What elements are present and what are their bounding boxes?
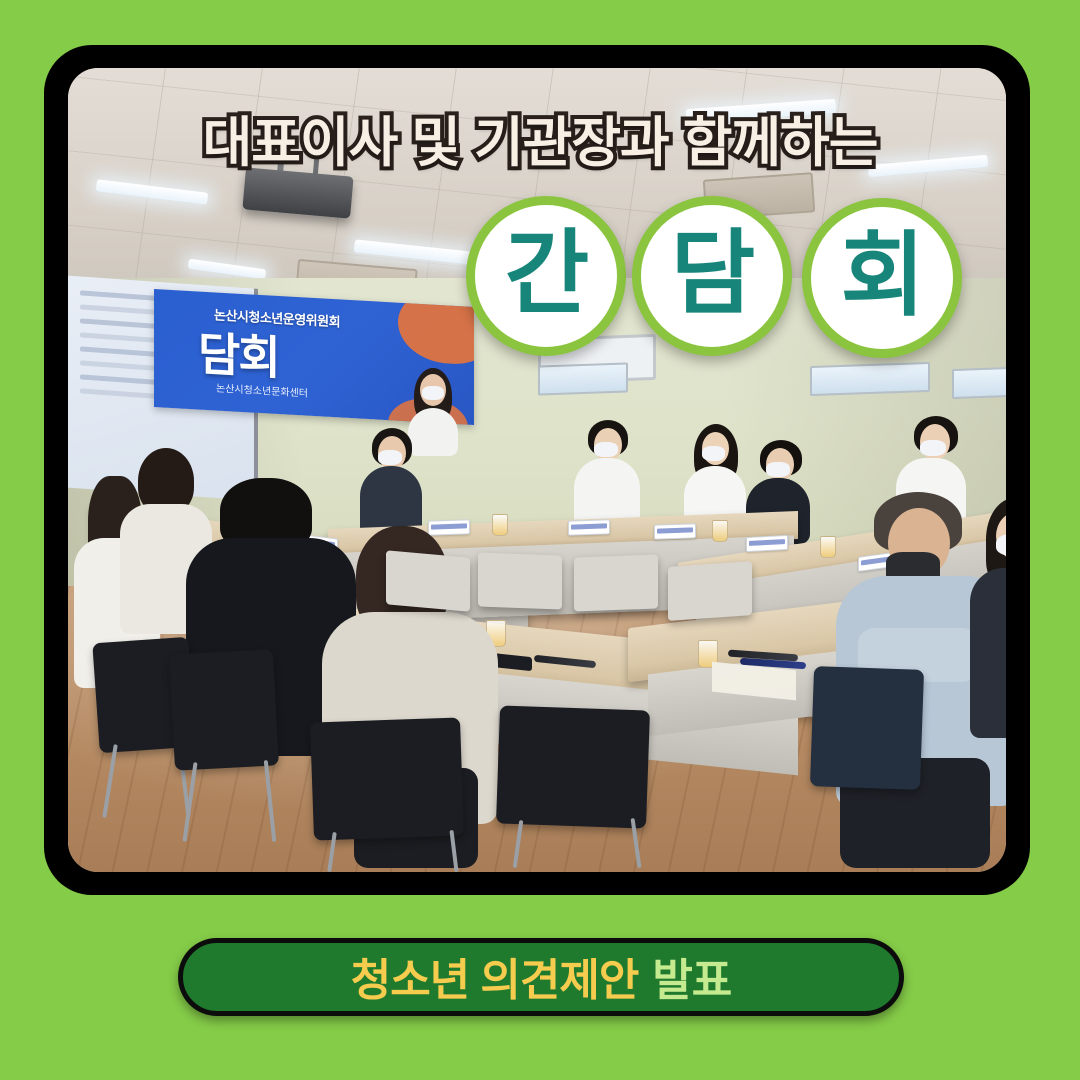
name-tag xyxy=(428,519,470,535)
chair xyxy=(810,666,924,790)
drink-cup xyxy=(712,520,728,542)
chair xyxy=(496,705,650,828)
stacking-chair xyxy=(478,553,562,610)
drink-cup xyxy=(492,514,508,536)
stacking-chair xyxy=(386,550,470,611)
title-circle-2-char: 담 xyxy=(671,228,754,320)
chair xyxy=(310,717,464,840)
title-circle-1-char: 간 xyxy=(505,228,588,320)
title-circle-3-char: 회 xyxy=(841,230,924,322)
page-title: 대표이사 및 기관장과 함께하는 xyxy=(0,98,1080,177)
wall-window xyxy=(810,362,930,396)
name-tag xyxy=(568,519,610,535)
wall-window xyxy=(952,367,1006,399)
title-circle-2: 담 xyxy=(632,196,792,356)
drink-cup xyxy=(820,536,836,558)
poster-canvas: 논산시청소년운영위원회 담회 논산시청소년문화센터 xyxy=(0,0,1080,1080)
title-circle-3: 회 xyxy=(802,198,962,358)
photo-scene: 논산시청소년운영위원회 담회 논산시청소년문화센터 xyxy=(68,68,1006,872)
bottom-banner-secondary-text: 발표 xyxy=(652,944,731,1008)
bottom-banner-primary-text: 청소년 의견제안 xyxy=(351,944,639,1008)
meeting-room-photo: 논산시청소년운영위원회 담회 논산시청소년문화센터 xyxy=(68,68,1006,872)
title-circle-group: 간 담 회 xyxy=(0,196,1080,364)
stacking-chair xyxy=(574,555,658,612)
title-circle-1: 간 xyxy=(466,196,626,356)
bottom-banner: 청소년 의견제안 발표 xyxy=(178,938,904,1016)
stacking-chair xyxy=(668,561,752,621)
wall-window xyxy=(538,362,628,395)
chair xyxy=(169,649,279,770)
banner-line-3: 논산시청소년문화센터 xyxy=(216,380,308,400)
name-tag xyxy=(746,535,788,552)
name-tag xyxy=(654,523,696,539)
